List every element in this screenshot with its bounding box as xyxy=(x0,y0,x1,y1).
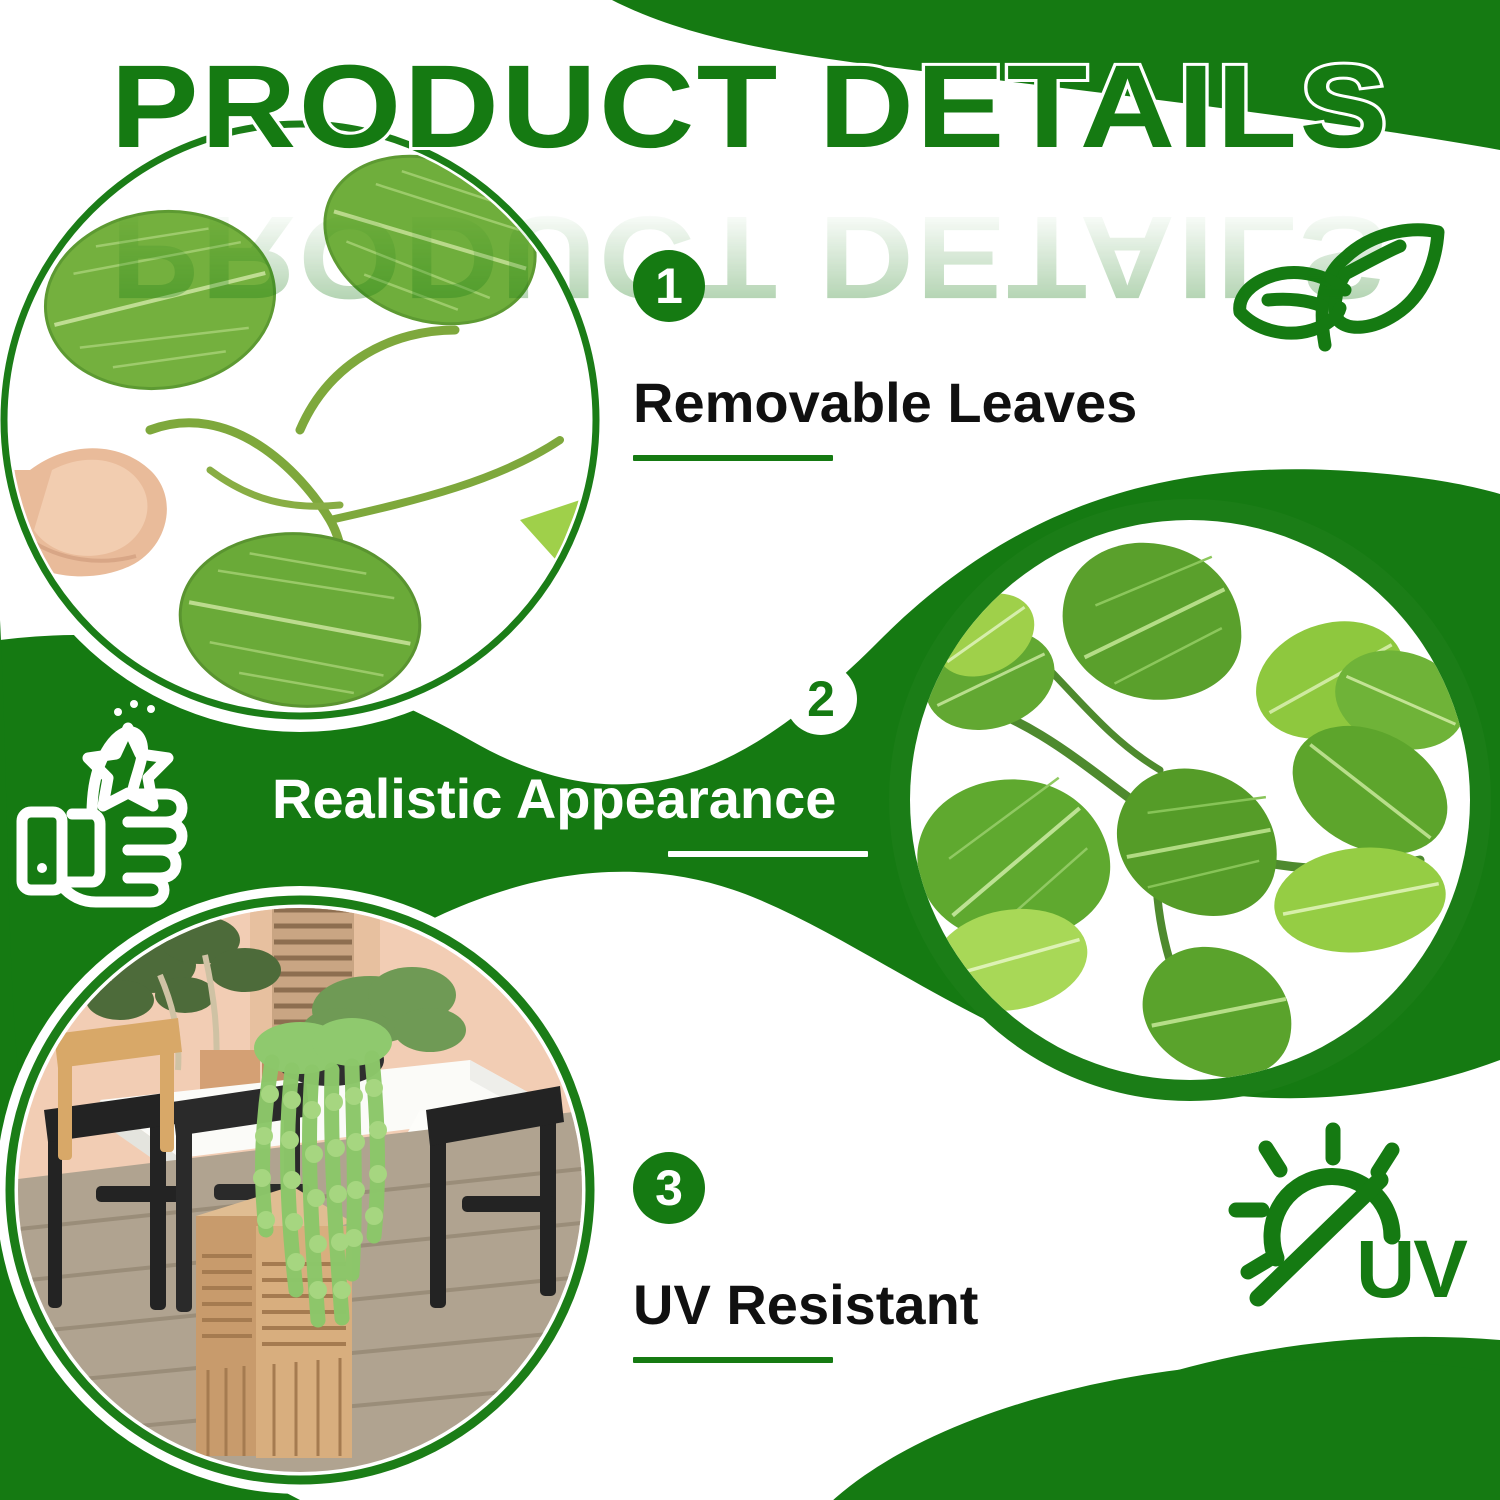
feature-2: 2 xyxy=(785,663,857,735)
feature-2-number-badge: 2 xyxy=(785,663,857,735)
feature-3-number-badge: 3 xyxy=(633,1152,705,1224)
bottom-dome-ellipse xyxy=(770,1360,1500,1500)
feature-3-title: UV Resistant xyxy=(633,1276,978,1335)
feature-1: 1 Removable Leaves xyxy=(633,250,1137,461)
feature-3-rule xyxy=(633,1357,833,1363)
feature-2-text-block: Realistic Appearance xyxy=(272,770,868,857)
feature-2-title: Realistic Appearance xyxy=(272,770,868,829)
feature-1-rule xyxy=(633,455,833,461)
feature-2-rule xyxy=(668,851,868,857)
feature-1-number-badge: 1 xyxy=(633,250,705,322)
leaf-sprout-icon xyxy=(1240,230,1438,345)
uv-icon-label: UV xyxy=(1356,1224,1468,1315)
feature-1-title: Removable Leaves xyxy=(633,374,1137,433)
product-details-infographic: UV PRODUCT DETAILS PRODUCT DETAILS 1 Rem… xyxy=(0,0,1500,1500)
feature-3: 3 UV Resistant xyxy=(633,1152,978,1363)
top-right-swoosh xyxy=(612,0,1500,150)
